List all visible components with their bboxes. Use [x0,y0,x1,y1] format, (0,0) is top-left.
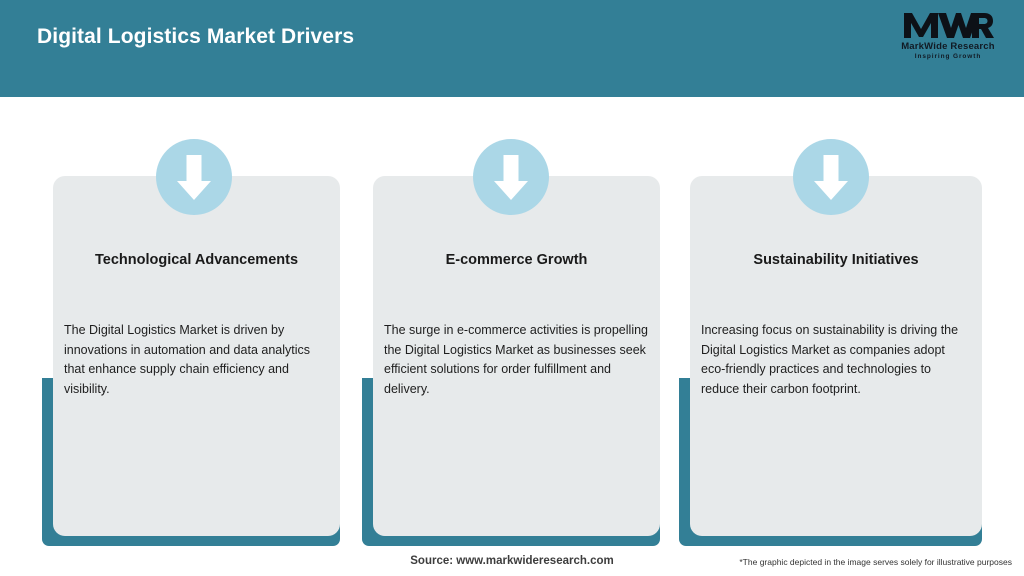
driver-card-2[interactable]: E-commerce Growth The surge in e-commerc… [362,176,660,546]
down-arrow-icon [793,139,869,215]
down-arrow-icon [156,139,232,215]
card-body-3: Increasing focus on sustainability is dr… [701,321,971,399]
card-panel-2: E-commerce Growth The surge in e-commerc… [373,176,660,536]
slide-canvas: Digital Logistics Market Drivers MarkWid… [0,0,1024,576]
card-title-3: Sustainability Initiatives [690,251,982,269]
card-body-1: The Digital Logistics Market is driven b… [64,321,329,399]
card-body-2: The surge in e-commerce activities is pr… [384,321,649,399]
down-arrow-icon [473,139,549,215]
card-title-1: Technological Advancements [53,251,340,269]
driver-card-group: Technological Advancements The Digital L… [0,0,1024,576]
disclaimer-note: *The graphic depicted in the image serve… [739,557,1012,567]
card-panel-1: Technological Advancements The Digital L… [53,176,340,536]
card-panel-3: Sustainability Initiatives Increasing fo… [690,176,982,536]
card-title-2: E-commerce Growth [373,251,660,269]
driver-card-3[interactable]: Sustainability Initiatives Increasing fo… [679,176,982,546]
driver-card-1[interactable]: Technological Advancements The Digital L… [42,176,340,546]
